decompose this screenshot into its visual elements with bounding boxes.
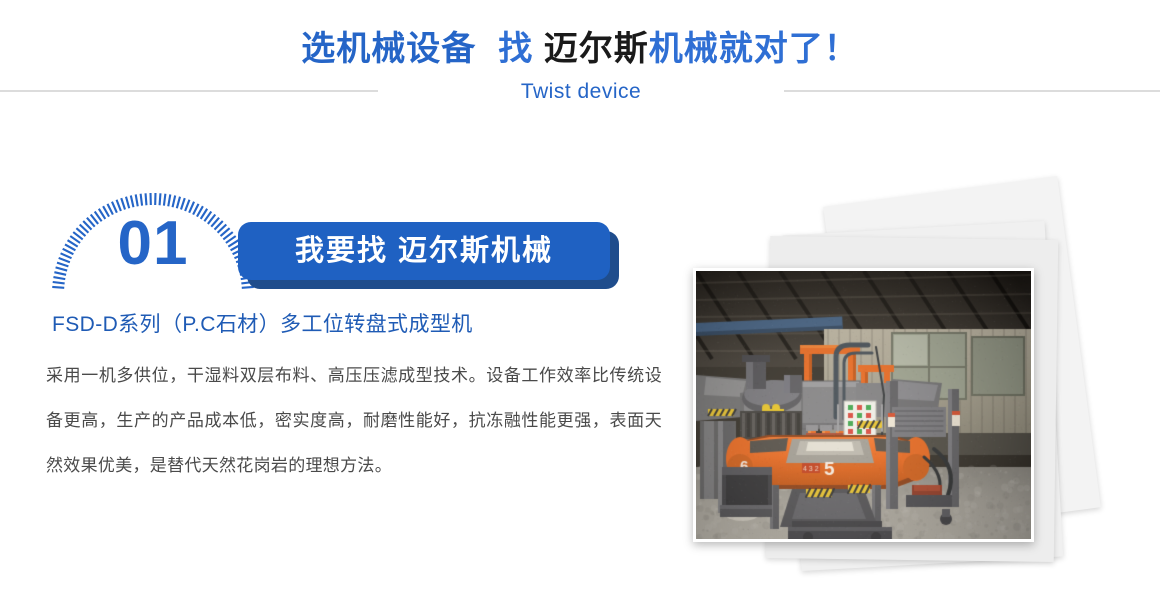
subtitle-row: Twist device	[0, 78, 1160, 112]
divider-right	[784, 90, 1160, 92]
page-title-segment-d: 机械就对了！	[649, 30, 859, 68]
page-title-segment-brand: 迈尔斯	[544, 30, 649, 68]
product-description: 采用一机多供位，干湿料双层布料、高压压滤成型技术。设备工作效率比传统设备更高，生…	[46, 353, 662, 488]
page-title: 选机械设备找 迈尔斯机械就对了！	[0, 27, 1160, 71]
page-subtitle: Twist device	[380, 78, 782, 106]
page-header: 选机械设备找 迈尔斯机械就对了！ Twist device	[0, 0, 1160, 120]
product-title: FSD-D系列（P.C石材）多工位转盘式成型机	[52, 310, 672, 340]
page-title-segment-a: 选机械设备	[301, 30, 476, 68]
find-maiersi-machinery-button[interactable]: 我要找 迈尔斯机械	[238, 222, 610, 280]
step-number-label: 01	[48, 208, 258, 280]
step-number-badge: 01	[48, 170, 258, 294]
product-photo	[696, 271, 1031, 539]
product-photo-stack	[680, 190, 1160, 570]
divider-left	[0, 90, 378, 92]
cta-container: 我要找 迈尔斯机械	[238, 222, 628, 294]
content-left-column: 01 我要找 迈尔斯机械 FSD-D系列（P.C石材）多工位转盘式成型机 采用一…	[0, 150, 680, 550]
page-title-segment-b: 找	[498, 30, 543, 68]
product-photo-frame	[693, 268, 1034, 542]
